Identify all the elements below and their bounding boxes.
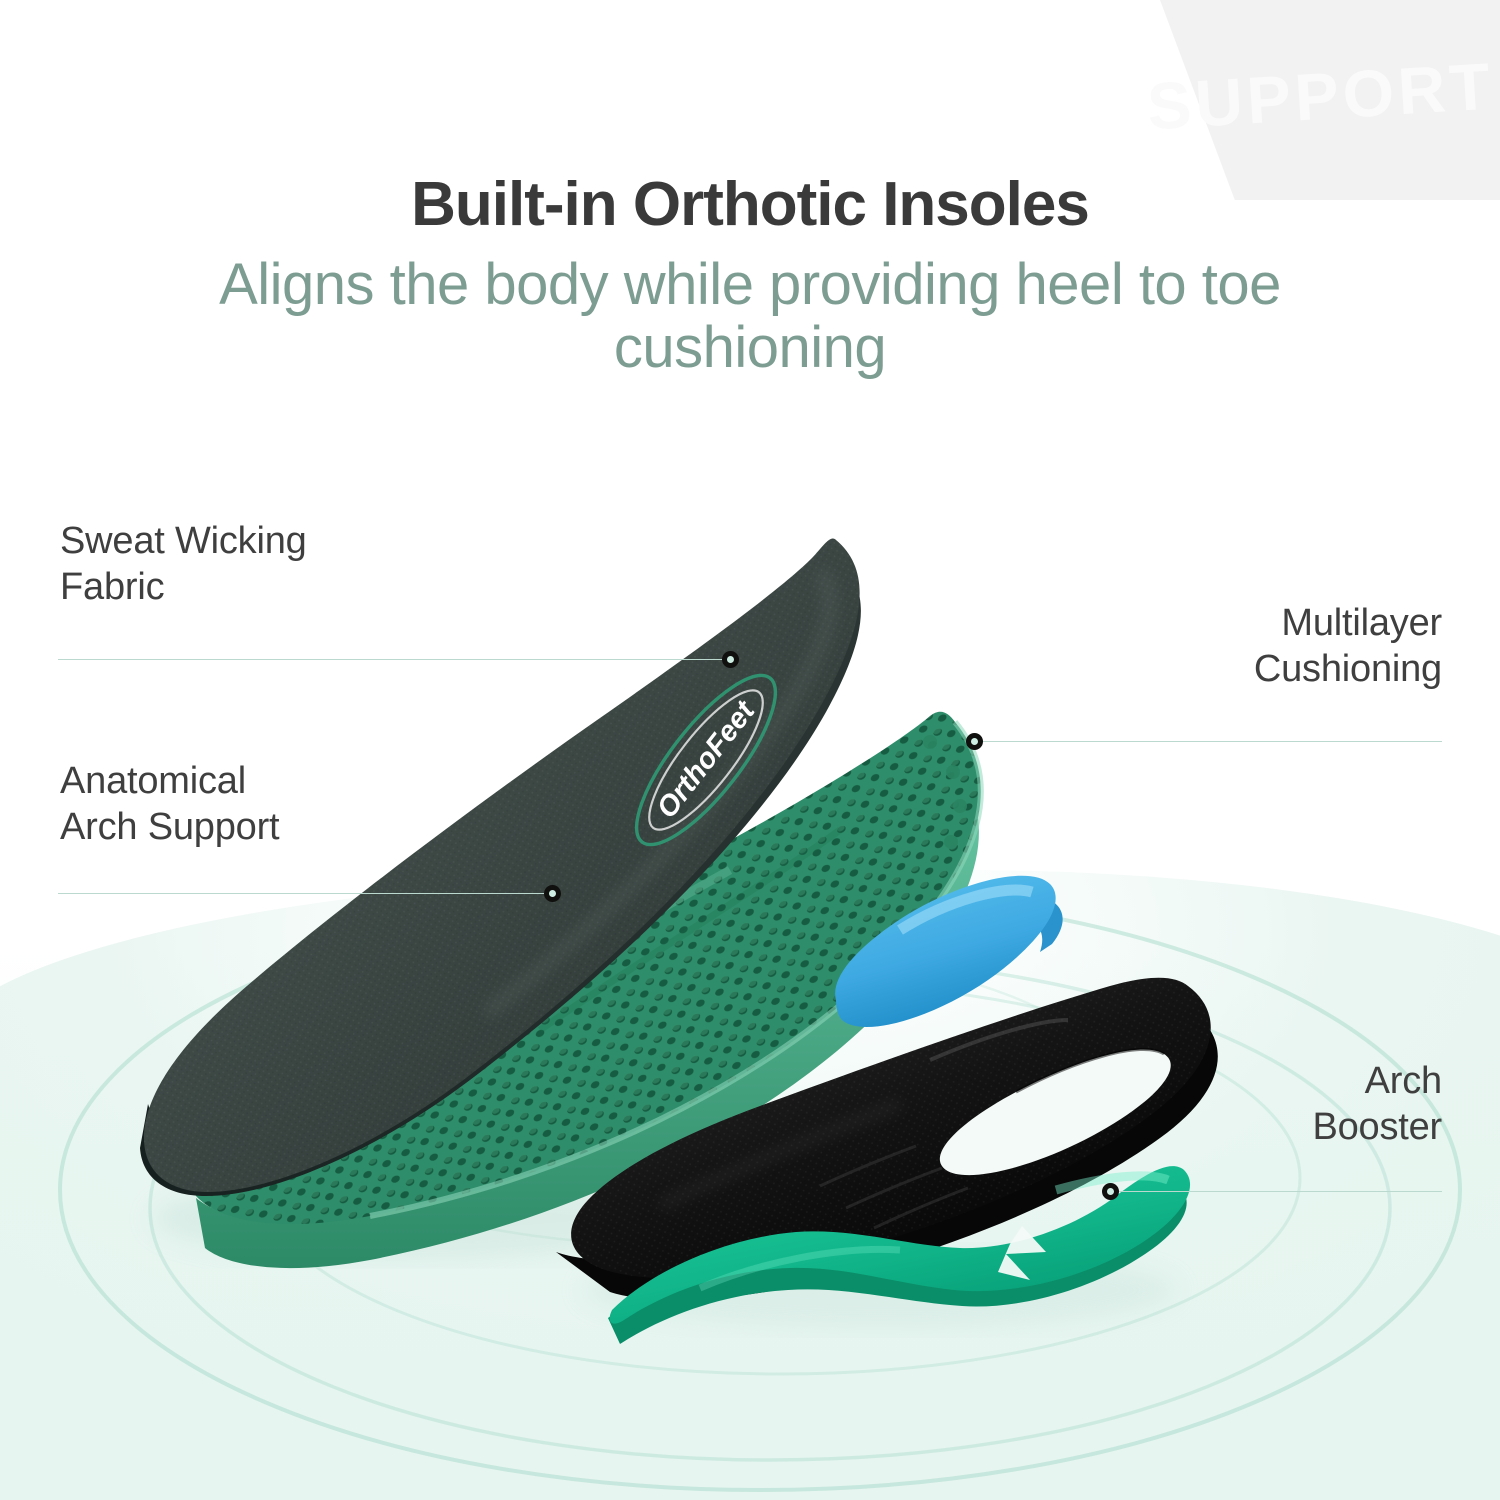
callout-dot-arch-booster	[1102, 1183, 1119, 1200]
heading-block: Built-in Orthotic Insoles Aligns the bod…	[0, 0, 1500, 380]
callout-label-sweat-wicking-fabric: Sweat Wicking Fabric	[60, 518, 420, 611]
callout-label-arch-booster: Arch Booster	[1190, 1058, 1442, 1151]
callout-sweat-wicking-fabric: Sweat Wicking Fabric	[60, 518, 420, 611]
callout-multilayer-cushioning: Multilayer Cushioning	[1102, 600, 1442, 693]
callout-arch-booster: Arch Booster	[1190, 1058, 1442, 1151]
leader-line-arch-booster	[1110, 1191, 1442, 1192]
callout-label-multilayer-cushioning: Multilayer Cushioning	[1102, 600, 1442, 693]
leader-line-multilayer-cushioning	[974, 741, 1442, 742]
page-title: Built-in Orthotic Insoles	[0, 0, 1500, 237]
callout-anatomical-arch-support: Anatomical Arch Support	[60, 758, 420, 851]
infographic-canvas: SUPPORT	[0, 0, 1500, 1500]
callout-dot-anatomical-arch-support	[544, 885, 561, 902]
callout-label-anatomical-arch-support: Anatomical Arch Support	[60, 758, 420, 851]
leader-line-anatomical-arch-support	[58, 893, 552, 894]
page-subtitle: Aligns the body while providing heel to …	[160, 253, 1340, 379]
callout-dot-sweat-wicking-fabric	[722, 651, 739, 668]
leader-line-sweat-wicking-fabric	[58, 659, 730, 660]
callout-dot-multilayer-cushioning	[966, 733, 983, 750]
